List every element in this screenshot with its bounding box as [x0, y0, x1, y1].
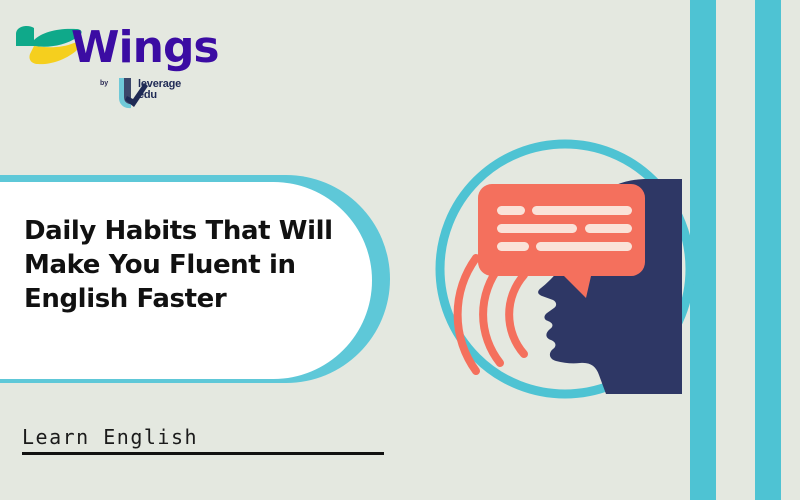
footer: Learn English: [22, 425, 384, 455]
speaking-head-illustration: [420, 132, 720, 412]
logo-wordmark: Wings: [71, 26, 219, 70]
wings-logo: Wings by leverage edu: [14, 18, 189, 113]
sublogo-line-2: edu: [138, 90, 181, 101]
headline-title: Daily Habits That Will Make You Fluent i…: [24, 215, 364, 316]
footer-category-label: Learn English: [22, 425, 384, 452]
leverage-edu-text: leverage edu: [138, 79, 181, 101]
footer-rule: [22, 452, 384, 455]
leverage-edu-sublogo: leverage edu: [114, 76, 186, 112]
vertical-bar-2: [755, 0, 781, 500]
logo-by-label: by: [100, 80, 108, 87]
